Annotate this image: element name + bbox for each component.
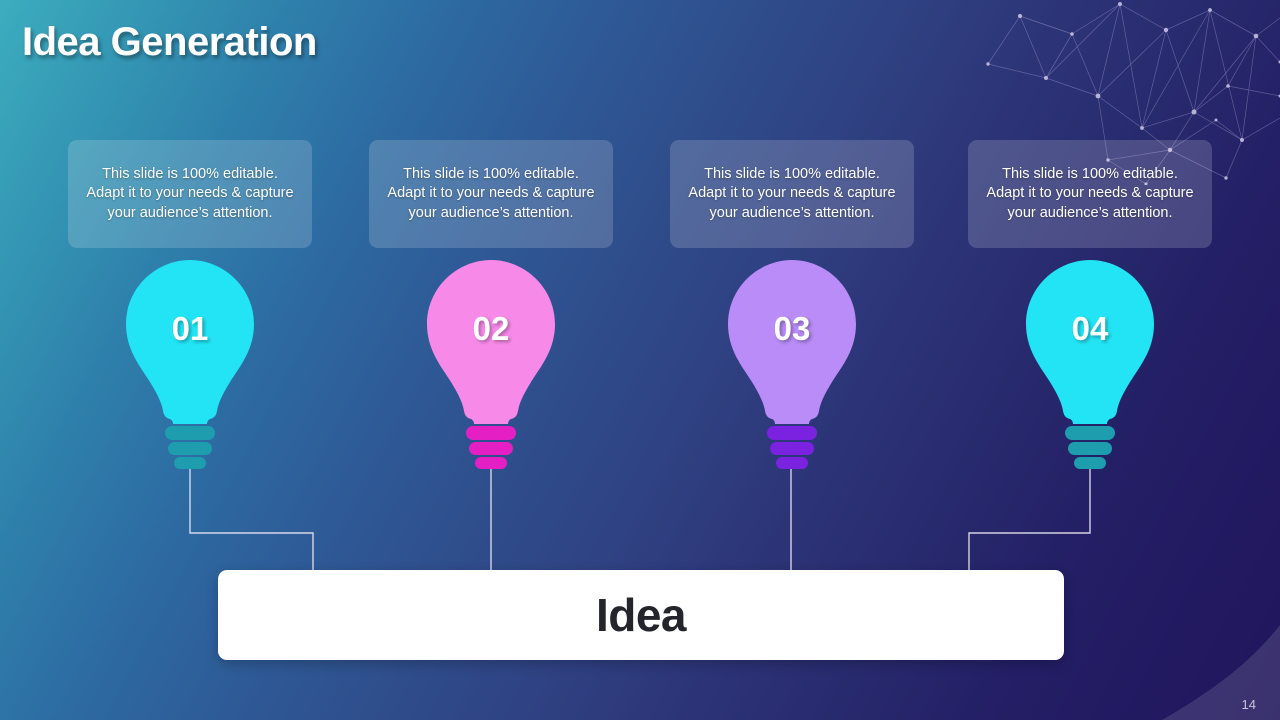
caption-text-03: This slide is 100% editable. Adapt it to… <box>684 165 900 224</box>
caption-card-03: This slide is 100% editable. Adapt it to… <box>670 140 914 248</box>
caption-card-01: This slide is 100% editable. Adapt it to… <box>68 140 312 248</box>
bulb-icon-04 <box>1018 258 1162 463</box>
caption-text-02: This slide is 100% editable. Adapt it to… <box>383 165 599 224</box>
bulb-base-bar-2-04 <box>1068 442 1112 455</box>
caption-card-04: This slide is 100% editable. Adapt it to… <box>968 140 1212 248</box>
bulb-icon-01 <box>118 258 262 463</box>
bulb-base-bar-3-04 <box>1074 457 1106 469</box>
bulb-04[interactable]: 04 <box>1018 258 1162 463</box>
caption-text-04: This slide is 100% editable. Adapt it to… <box>982 165 1198 224</box>
bulb-icon-02 <box>419 258 563 463</box>
bulb-base-bar-1-03 <box>767 426 817 440</box>
bulb-glass-01 <box>126 260 254 424</box>
caption-card-02: This slide is 100% editable. Adapt it to… <box>369 140 613 248</box>
idea-box[interactable]: Idea <box>218 570 1064 660</box>
page-number: 14 <box>1242 697 1256 712</box>
bulb-03[interactable]: 03 <box>720 258 864 463</box>
caption-text-01: This slide is 100% editable. Adapt it to… <box>82 165 298 224</box>
slide-canvas: Idea Generation This slide is 100% edita… <box>0 0 1280 720</box>
bulb-base-bar-2-02 <box>469 442 513 455</box>
bulb-base-bar-3-03 <box>776 457 808 469</box>
bulb-base-bar-2-01 <box>168 442 212 455</box>
idea-label: Idea <box>596 588 686 642</box>
bulb-02[interactable]: 02 <box>419 258 563 463</box>
bulb-base-bar-1-02 <box>466 426 516 440</box>
bulb-01[interactable]: 01 <box>118 258 262 463</box>
bulb-glass-02 <box>427 260 555 424</box>
bulb-base-bar-1-01 <box>165 426 215 440</box>
bulb-base-bar-2-03 <box>770 442 814 455</box>
bulb-glass-03 <box>728 260 856 424</box>
bulb-glass-04 <box>1026 260 1154 424</box>
bulb-base-bar-3-01 <box>174 457 206 469</box>
bulb-icon-03 <box>720 258 864 463</box>
bulb-base-bar-3-02 <box>475 457 507 469</box>
bulb-base-bar-1-04 <box>1065 426 1115 440</box>
